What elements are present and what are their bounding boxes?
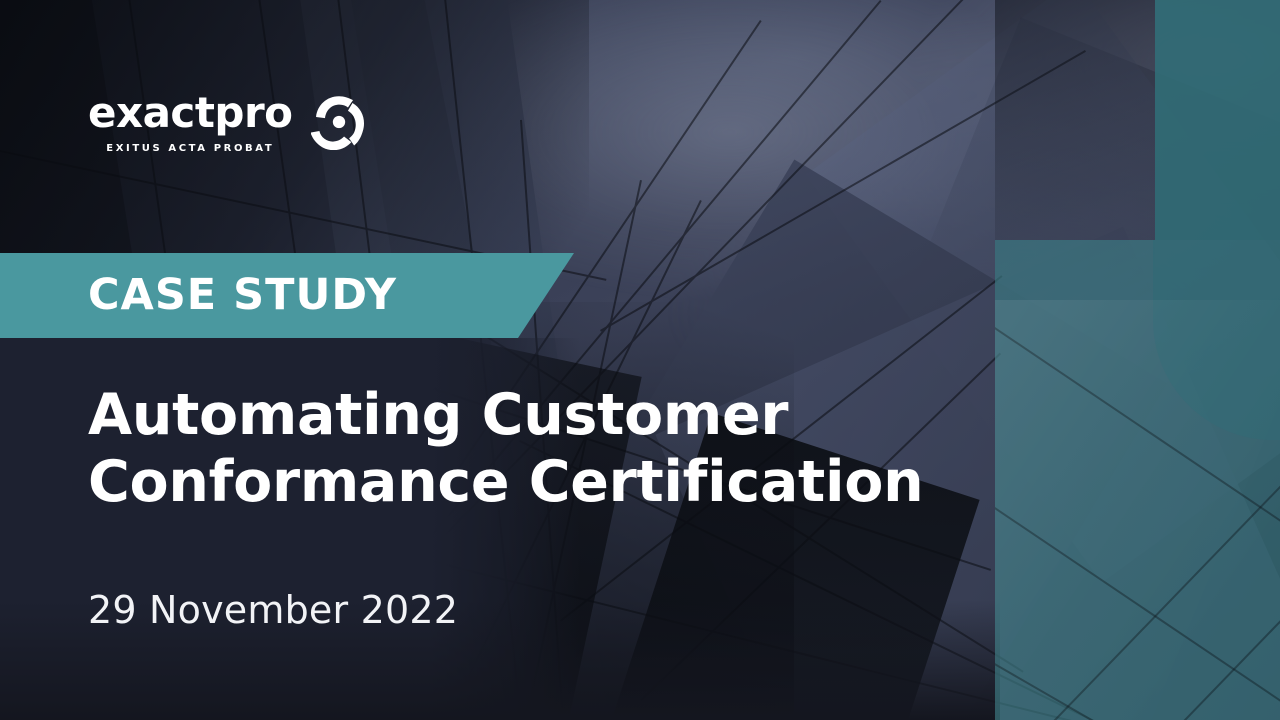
case-study-title-slide: exactpro EXITUS ACTA PROBAT CASE STUDY A…: [0, 0, 1280, 720]
publication-date: 29 November 2022: [88, 591, 458, 629]
page-title-line-2: Conformance Certification: [88, 449, 968, 516]
case-study-banner: CASE STUDY: [0, 253, 574, 338]
right-decorative-panel: [995, 0, 1280, 720]
brand-logo-text: exactpro EXITUS ACTA PROBAT: [88, 92, 293, 154]
page-title-line-1: Automating Customer: [88, 382, 968, 449]
brand-name: exactpro: [88, 92, 293, 134]
brand-logo[interactable]: exactpro EXITUS ACTA PROBAT: [88, 92, 367, 154]
right-panel-teal-block: [1155, 0, 1280, 240]
page-title: Automating Customer Conformance Certific…: [88, 382, 968, 515]
case-study-banner-label: CASE STUDY: [88, 274, 397, 317]
brand-tagline: EXITUS ACTA PROBAT: [88, 143, 293, 154]
exactpro-triskelion-logo-icon: [311, 94, 367, 150]
right-panel-sheen: [995, 300, 1280, 720]
